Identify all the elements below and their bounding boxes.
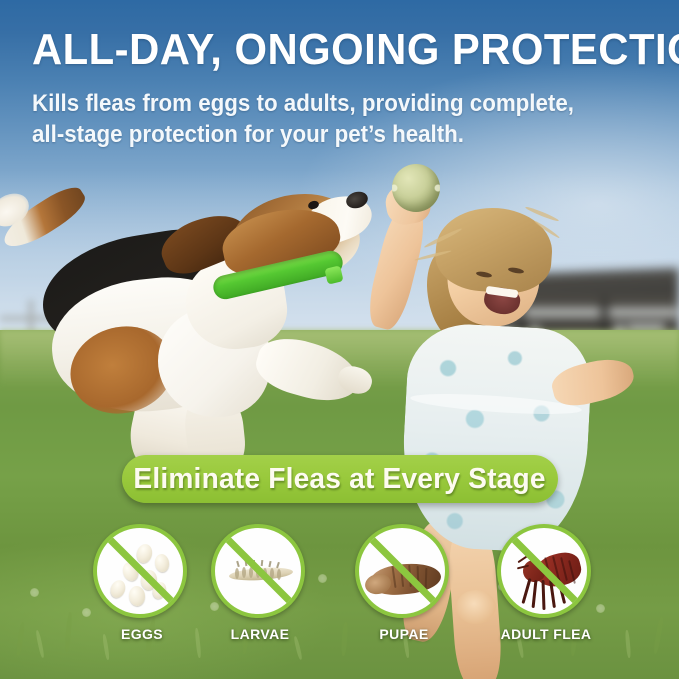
stage-label-pupae: PUPAE xyxy=(355,626,453,642)
subheadline: Kills fleas from eggs to adults, providi… xyxy=(32,88,590,150)
stage-label-adult-flea: ADULT FLEA xyxy=(497,626,595,642)
stage-label-larvae: LARVAE xyxy=(211,626,309,642)
page-title: ALL-DAY, ONGOING PROTECTION xyxy=(32,26,621,74)
stage-adult-flea: ADULT FLEA xyxy=(497,524,595,642)
adult-flea-icon xyxy=(497,524,591,618)
stage-eggs: EGGS xyxy=(93,524,191,642)
tennis-ball-seam xyxy=(392,164,440,212)
stage-larvae: LARVAE xyxy=(211,524,309,642)
subheadline-line-1: Kills fleas from eggs to adults, providi… xyxy=(32,88,590,119)
girl-dress xyxy=(398,321,593,554)
flea-larva-icon xyxy=(211,524,305,618)
collar-clip xyxy=(324,265,343,284)
flea-eggs-icon xyxy=(93,524,187,618)
beagle-dog xyxy=(0,175,370,475)
prohibition-slash xyxy=(98,528,187,618)
stage-pupae: PUPAE xyxy=(355,524,453,642)
banner-eliminate-fleas: Eliminate Fleas at Every Stage xyxy=(122,455,558,503)
product-marketing-poster: ALL-DAY, ONGOING PROTECTION Kills fleas … xyxy=(0,0,679,679)
subheadline-line-2: all-stage protection for your pet’s heal… xyxy=(32,119,590,150)
flea-lifecycle-stages: EGGS LARVAE xyxy=(0,524,679,650)
flea-pupa-icon xyxy=(355,524,449,618)
banner-label: Eliminate Fleas at Every Stage xyxy=(134,463,546,496)
stage-label-eggs: EGGS xyxy=(93,626,191,642)
